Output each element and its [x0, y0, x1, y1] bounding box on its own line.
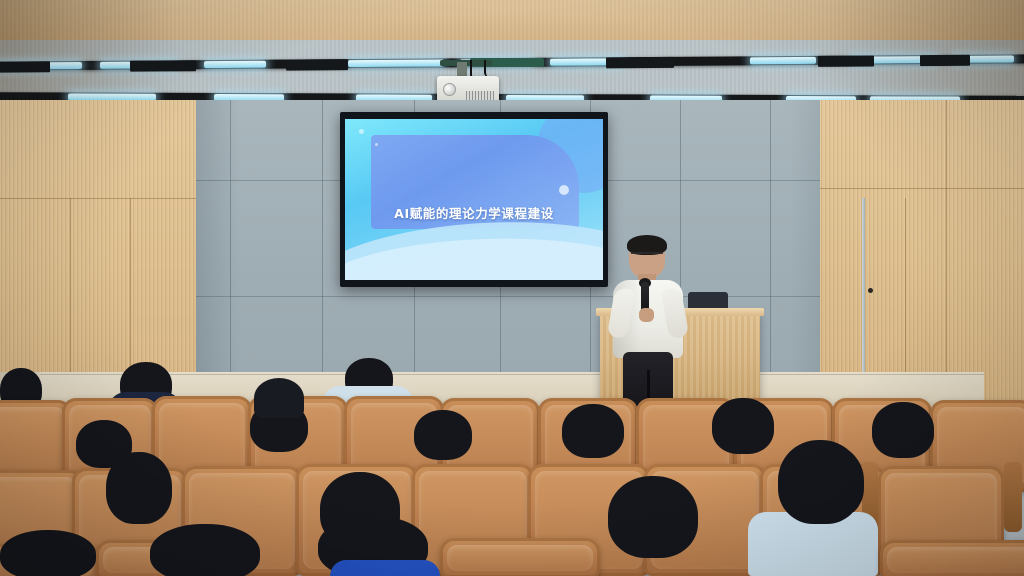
slide-decor-dot-2 — [375, 143, 378, 146]
audience-head — [414, 410, 472, 460]
slide-title: AI赋能的理论力学课程建设 — [345, 203, 603, 222]
audience-head — [562, 404, 624, 458]
audience-head — [872, 402, 934, 458]
ceiling-light-fixture-box — [0, 61, 50, 72]
projection-screen: AI赋能的理论力学课程建设 — [340, 112, 608, 287]
seat-armrest — [1004, 462, 1022, 532]
seat[interactable] — [440, 538, 600, 576]
audience-head — [778, 440, 862, 524]
audience-head — [106, 452, 172, 524]
ceiling-lamp-front — [348, 59, 444, 67]
presenter-hand — [639, 308, 654, 322]
audience-torso — [330, 560, 440, 576]
ceiling-light-fixture-box — [920, 55, 970, 66]
seat[interactable] — [880, 540, 1024, 576]
right-door-knob[interactable] — [868, 288, 873, 293]
projector-vent — [466, 91, 494, 100]
lecture-hall-scene: AI赋能的理论力学课程建设 — [0, 0, 1024, 576]
audience-head — [712, 398, 774, 454]
projection-screen-surface: AI赋能的理论力学课程建设 — [345, 119, 603, 280]
projector-lens-icon — [443, 83, 456, 96]
audience-head — [0, 530, 96, 576]
audience-head — [150, 524, 260, 576]
ceiling-light-fixture-box — [286, 59, 348, 70]
slide-decor-dot-3 — [559, 185, 569, 195]
slide-decor-dot-1 — [359, 129, 364, 134]
ceiling-light-fixture-box — [606, 57, 674, 68]
ceiling-lamp-front — [204, 61, 266, 68]
audience-hair — [254, 378, 304, 418]
right-door-gap — [862, 198, 865, 378]
ceiling-lamp-front — [750, 57, 816, 64]
ceiling-light-fixture-box — [130, 60, 196, 71]
presenter — [605, 238, 691, 414]
ceiling-light-fixture-box — [818, 55, 874, 66]
stage-floor-seam — [40, 374, 984, 375]
presenter-glasses-icon — [631, 252, 663, 261]
audience-head — [608, 476, 698, 558]
